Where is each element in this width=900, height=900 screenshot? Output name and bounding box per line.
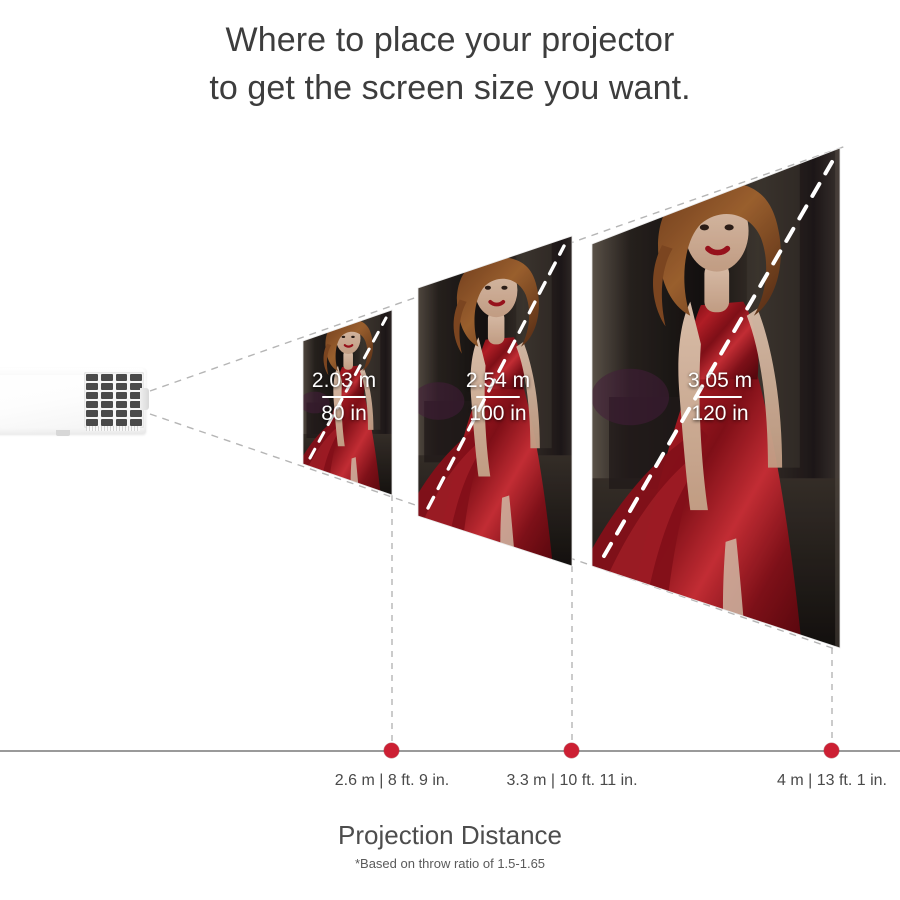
projector-foot xyxy=(56,430,70,436)
projector-device xyxy=(0,366,152,438)
screen-panel-120in xyxy=(538,132,891,662)
footer-note: *Based on throw ratio of 1.5-1.65 xyxy=(0,854,900,874)
distance-label-2: 3.3 m | 10 ft. 11 in. xyxy=(468,772,676,790)
footer-title: Projection Distance xyxy=(0,818,900,852)
screen-panel-100in xyxy=(377,224,613,578)
distance-marker-dot-1 xyxy=(384,743,399,758)
projector-grille-icon xyxy=(84,372,144,428)
distance-label-1: 2.6 m | 8 ft. 9 in. xyxy=(297,772,487,790)
distance-label-3: 4 m | 13 ft. 1 in. xyxy=(740,772,900,790)
screen-panel-80in xyxy=(279,300,416,505)
projector-lens-icon xyxy=(140,388,149,410)
footer: Projection Distance *Based on throw rati… xyxy=(0,818,900,874)
projection-diagram: 2.03 m 80 in 2.54 m 100 in 3.05 m 120 in… xyxy=(0,0,900,900)
distance-axis-line xyxy=(0,750,900,752)
projector-vent-strip xyxy=(86,426,140,431)
diagram-vector-layer xyxy=(0,0,900,900)
distance-marker-dot-2 xyxy=(564,743,579,758)
distance-marker-dot-3 xyxy=(824,743,839,758)
